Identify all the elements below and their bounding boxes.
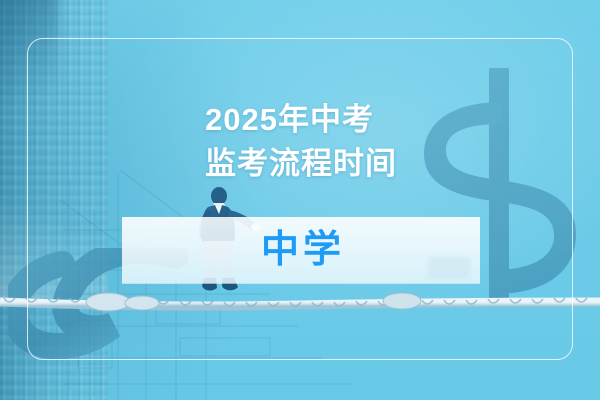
banner-highlight-patch <box>428 257 470 279</box>
cityscape-dark-top <box>0 0 58 140</box>
title-line-2: 监考流程时间 <box>205 142 565 186</box>
category-banner: 中学 <box>122 217 480 283</box>
banner-label: 中学 <box>257 231 345 269</box>
page-title: 2025年中考 监考流程时间 <box>205 98 565 186</box>
rope-icon <box>0 282 600 324</box>
poster-canvas: 2025年中考 监考流程时间 中学 <box>0 0 600 400</box>
tightrope <box>0 282 600 324</box>
title-line-1: 2025年中考 <box>205 98 565 142</box>
